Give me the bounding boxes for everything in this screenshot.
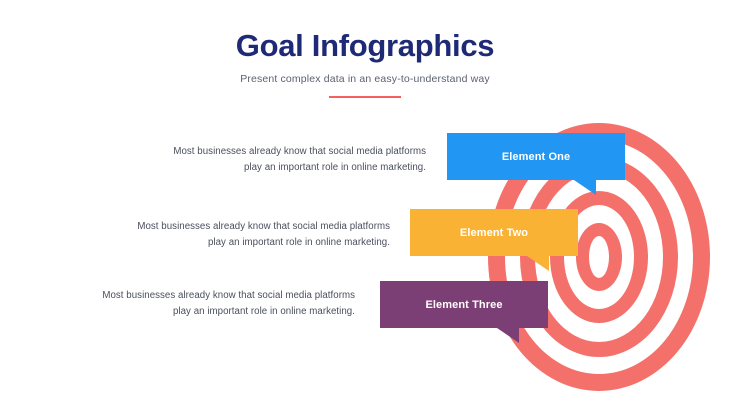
- callout-label-element-three: Element Three: [425, 299, 502, 311]
- callout-element-two[interactable]: Element Two: [410, 209, 578, 256]
- description-element-three: Most businesses already know that social…: [30, 288, 355, 320]
- callout-element-three[interactable]: Element Three: [380, 281, 548, 328]
- target-ring-bullseye: [576, 223, 622, 291]
- title-divider: [329, 96, 401, 98]
- page-subtitle: Present complex data in an easy-to-under…: [0, 73, 730, 85]
- description-element-two: Most businesses already know that social…: [60, 219, 390, 251]
- page-title: Goal Infographics: [0, 28, 730, 64]
- callout-tail-element-three: [497, 328, 519, 343]
- callout-tail-element-one: [574, 180, 596, 195]
- slide-canvas: Goal Infographics Present complex data i…: [0, 0, 730, 411]
- callout-label-element-two: Element Two: [460, 227, 528, 239]
- callout-label-element-one: Element One: [502, 151, 570, 163]
- callout-element-one[interactable]: Element One: [447, 133, 625, 180]
- description-element-one: Most businesses already know that social…: [96, 144, 426, 176]
- callout-tail-element-two: [527, 256, 549, 271]
